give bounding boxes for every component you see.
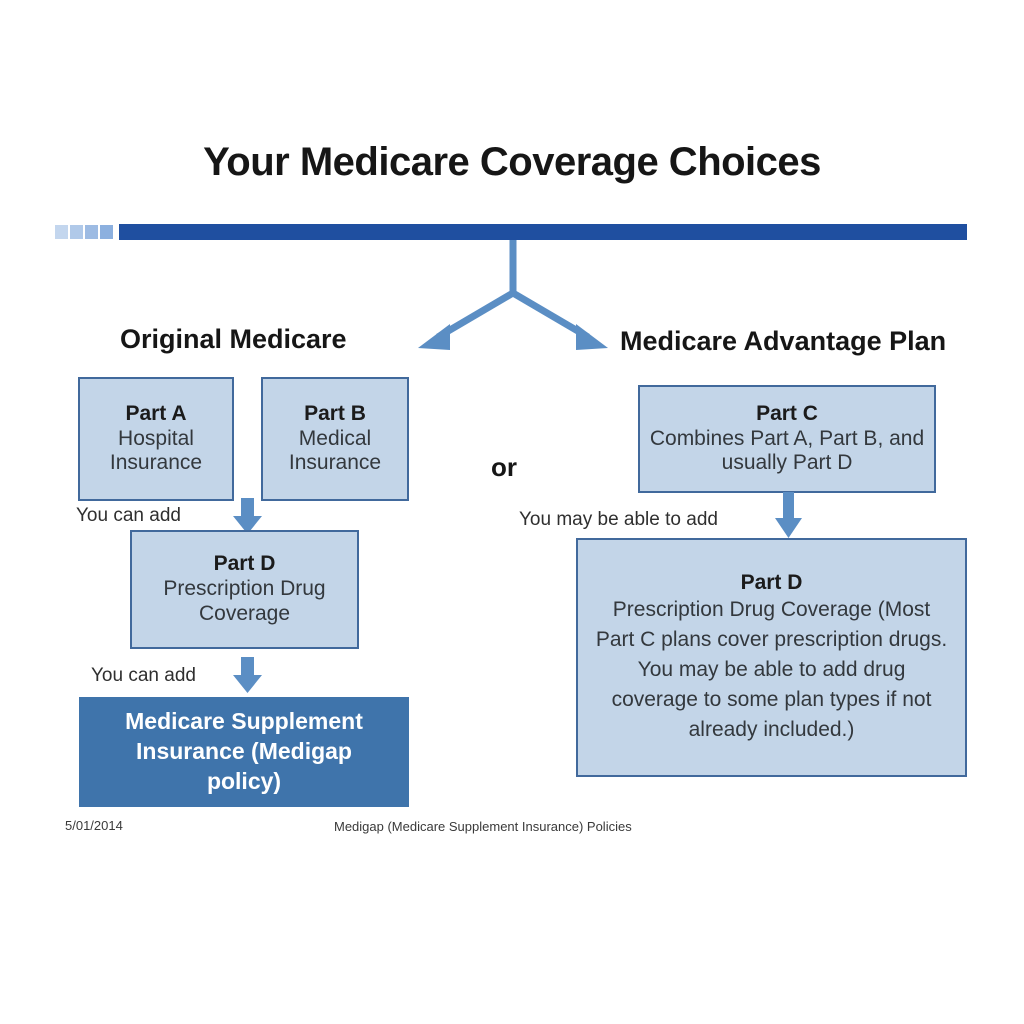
box-part-a[interactable]: Part A Hospital Insurance xyxy=(78,377,234,501)
footer-date: 5/01/2014 xyxy=(65,818,123,833)
arrow-partd-to-medigap xyxy=(228,657,268,702)
box-medigap-body: Medicare Supplement Insurance (Medigap p… xyxy=(81,707,407,797)
title-divider xyxy=(55,224,967,240)
box-part-b[interactable]: Part B Medical Insurance xyxy=(261,377,409,501)
divider-square-4 xyxy=(100,225,113,239)
divider-square-2 xyxy=(70,225,83,239)
branch-left-arrowhead xyxy=(418,324,450,350)
caption-you-can-add-2: You can add xyxy=(91,665,196,687)
heading-medicare-advantage-plan: Medicare Advantage Plan xyxy=(620,326,946,357)
box-part-a-title: Part A xyxy=(125,402,186,427)
box-part-d-right-title: Part D xyxy=(741,571,803,596)
caption-you-may-be-able-to-add: You may be able to add xyxy=(519,509,718,531)
or-label: or xyxy=(491,452,517,483)
heading-original-medicare: Original Medicare xyxy=(120,324,347,355)
branch-right-arrowhead xyxy=(576,324,608,350)
box-part-c-title: Part C xyxy=(756,402,818,427)
divider-square-1 xyxy=(55,225,68,239)
box-part-d-left-body: Prescription Drug Coverage xyxy=(132,577,357,627)
footer-note: Medigap (Medicare Supplement Insurance) … xyxy=(334,819,632,834)
page-title: Your Medicare Coverage Choices xyxy=(0,140,1024,185)
box-part-b-body: Medical Insurance xyxy=(281,427,389,477)
caption-you-can-add-1: You can add xyxy=(76,505,181,527)
box-part-b-title: Part B xyxy=(304,402,366,427)
divider-square-3 xyxy=(85,225,98,239)
slide-canvas: Your Medicare Coverage Choices Original … xyxy=(0,0,1024,1024)
box-part-d-right-body: Prescription Drug Coverage (Most Part C … xyxy=(578,595,965,744)
divider-bar xyxy=(119,224,967,240)
arrow-down-icon xyxy=(771,492,807,542)
branch-arrow-svg xyxy=(404,240,634,358)
branch-arrows xyxy=(404,240,634,358)
box-part-c-body: Combines Part A, Part B, and usually Par… xyxy=(640,427,934,477)
box-part-d-right[interactable]: Part D Prescription Drug Coverage (Most … xyxy=(576,538,967,777)
box-part-d-left[interactable]: Part D Prescription Drug Coverage xyxy=(130,530,359,649)
box-part-d-left-title: Part D xyxy=(214,552,276,577)
box-part-a-body: Hospital Insurance xyxy=(102,427,210,477)
box-medigap[interactable]: Medicare Supplement Insurance (Medigap p… xyxy=(79,697,409,807)
arrow-down-icon xyxy=(228,657,268,697)
box-part-c[interactable]: Part C Combines Part A, Part B, and usua… xyxy=(638,385,936,493)
